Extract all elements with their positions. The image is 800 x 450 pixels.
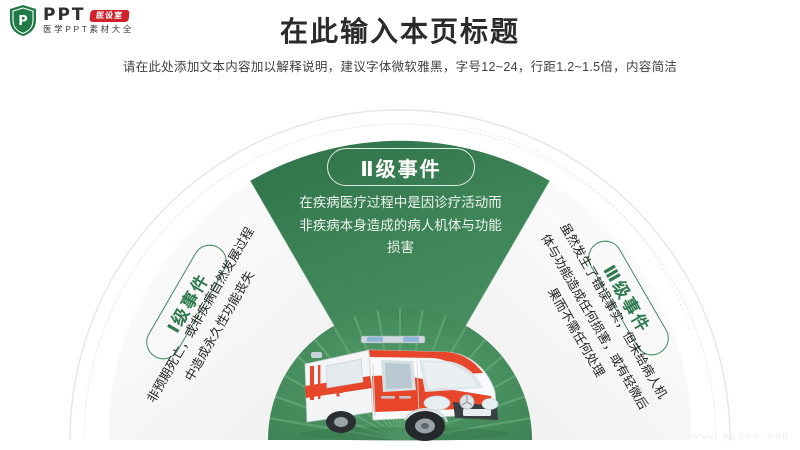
ambulance-image (277, 330, 527, 442)
site-watermark: www.ppter.com (694, 432, 790, 442)
segment-body-level-2: 在疾病医疗过程中是因诊疗活动而非疾病本身造成的病人机体与功能损害 (293, 192, 508, 260)
slide-canvas: P PPT 医设室 医学PPT素材大全 在此输入本页标题 请在此处添加文本内容加… (0, 0, 800, 450)
segment-label-level-2[interactable]: Ⅱ级事件 (327, 148, 475, 186)
